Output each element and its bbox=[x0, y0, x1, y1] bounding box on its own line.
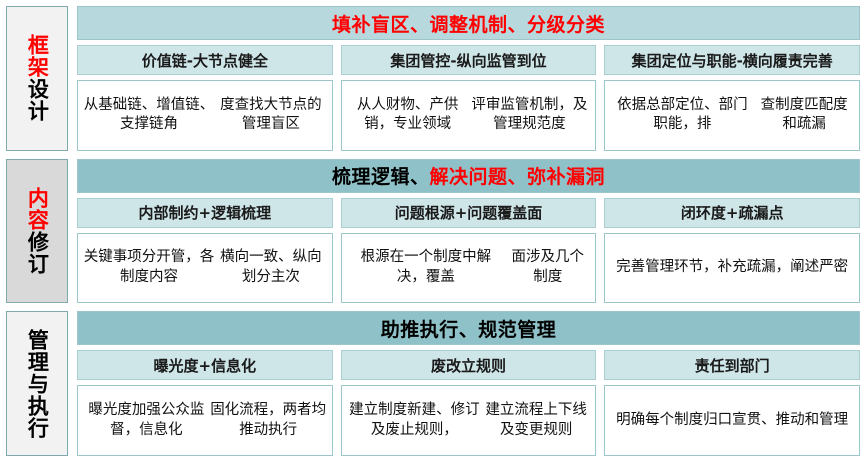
stage-label-framework-design: 框架设计 bbox=[6, 6, 68, 151]
column-card: 集团定位与职能-横向履责完善 依据总部定位、部门职能，排 查制度匹配度和疏漏 bbox=[604, 45, 860, 151]
column-card: 价值链-大节点健全 从基础链、增值链、支撑链角 度查找大节点的管理盲区 bbox=[77, 45, 333, 151]
stage-label-red: 框架 bbox=[25, 34, 49, 78]
column-group: 价值链-大节点健全 从基础链、增值链、支撑链角 度查找大节点的管理盲区 集团管控… bbox=[77, 45, 860, 151]
framework-diagram: 框架设计 填补盲区、调整机制、分级分类 价值链-大节点健全 从基础链、增值链、支… bbox=[0, 0, 866, 460]
column-card: 内部制约+逻辑梳理 关键事项分开管，各制度内容 横向一致、纵向划分主次 bbox=[77, 198, 333, 304]
column-body-line: 建立制度新建、修订及废止规则， bbox=[347, 401, 482, 440]
column-body: 从人财物、产供销，专业领域 评审监管机制，及管理规范度 bbox=[341, 80, 597, 151]
column-card: 问题根源+问题覆盖面 根源在一个制度中解决，覆盖 面涉及几个制度 bbox=[341, 198, 597, 304]
column-subheader: 废改立规则 bbox=[341, 350, 597, 380]
column-subheader: 内部制约+逻辑梳理 bbox=[77, 198, 333, 228]
column-body: 从基础链、增值链、支撑链角 度查找大节点的管理盲区 bbox=[77, 80, 333, 151]
column-card: 闭环度+疏漏点 完善管理环节，补充疏漏，阐 述严密 bbox=[604, 198, 860, 304]
stage-content: 梳理逻辑、解决问题、弥补漏洞 内部制约+逻辑梳理 关键事项分开管，各制度内容 横… bbox=[77, 159, 860, 304]
column-body-line: 推动和管理 bbox=[776, 411, 849, 431]
column-body-line: 关键事项分开管，各制度内容 bbox=[83, 248, 215, 287]
column-body-line: 从基础链、增值链、支撑链角 bbox=[83, 96, 215, 135]
banner-black-prefix: 助推执行、规范管理 bbox=[381, 315, 557, 342]
column-subheader: 问题根源+问题覆盖面 bbox=[341, 198, 597, 228]
column-body-line: 明确每个制度归口宣贯、 bbox=[616, 411, 776, 431]
row-banner-content-revision: 梳理逻辑、解决问题、弥补漏洞 bbox=[77, 159, 860, 193]
stage-content: 填补盲区、调整机制、分级分类 价值链-大节点健全 从基础链、增值链、支撑链角 度… bbox=[77, 6, 860, 151]
banner-black-prefix: 梳理逻辑、 bbox=[332, 162, 430, 189]
column-body-line: 查制度匹配度和疏漏 bbox=[754, 96, 854, 135]
column-subheader: 集团定位与职能-横向履责完善 bbox=[604, 45, 860, 75]
column-body-line: 曝光度加强公众监督，信息化 bbox=[83, 401, 210, 440]
column-subheader: 闭环度+疏漏点 bbox=[604, 198, 860, 228]
column-subheader: 价值链-大节点健全 bbox=[77, 45, 333, 75]
stage-label-red: 内容 bbox=[25, 187, 49, 231]
column-body-line: 述严密 bbox=[805, 258, 849, 278]
column-card: 责任到部门 明确每个制度归口宣贯、 推动和管理 bbox=[604, 350, 860, 456]
column-body-line: 完善管理环节，补充疏漏，阐 bbox=[616, 258, 805, 278]
row-banner-management-execution: 助推执行、规范管理 bbox=[77, 311, 860, 345]
stage-label-text: 管理与执行 bbox=[26, 329, 49, 439]
column-subheader: 曝光度+信息化 bbox=[77, 350, 333, 380]
stage-label-text: 框架设计 bbox=[26, 34, 49, 122]
stage-row-framework-design: 框架设计 填补盲区、调整机制、分级分类 价值链-大节点健全 从基础链、增值链、支… bbox=[6, 6, 860, 151]
column-card: 集团管控-纵向监管到位 从人财物、产供销，专业领域 评审监管机制，及管理规范度 bbox=[341, 45, 597, 151]
column-body: 关键事项分开管，各制度内容 横向一致、纵向划分主次 bbox=[77, 233, 333, 304]
stage-label-content-revision: 内容修订 bbox=[6, 159, 68, 304]
column-body-line: 面涉及几个制度 bbox=[505, 248, 590, 287]
column-body-line: 评审监管机制，及管理规范度 bbox=[469, 96, 591, 135]
stage-label-management-execution: 管理与执行 bbox=[6, 311, 68, 456]
stage-row-management-execution: 管理与执行 助推执行、规范管理 曝光度+信息化 曝光度加强公众监督，信息化 固化… bbox=[6, 311, 860, 456]
banner-red-text: 解决问题、弥补漏洞 bbox=[430, 162, 606, 189]
column-body-line: 建立流程上下线及变更规则 bbox=[482, 401, 590, 440]
column-body: 完善管理环节，补充疏漏，阐 述严密 bbox=[604, 233, 860, 304]
banner-red-text: 填补盲区、调整机制、分级分类 bbox=[332, 10, 605, 37]
stage-row-content-revision: 内容修订 梳理逻辑、解决问题、弥补漏洞 内部制约+逻辑梳理 关键事项分开管，各制… bbox=[6, 159, 860, 304]
stage-label-black: 修订 bbox=[25, 231, 49, 275]
column-body-line: 横向一致、纵向划分主次 bbox=[215, 248, 327, 287]
column-card: 曝光度+信息化 曝光度加强公众监督，信息化 固化流程，两者均推动执行 bbox=[77, 350, 333, 456]
column-body-line: 从人财物、产供销，专业领域 bbox=[347, 96, 469, 135]
stage-label-text: 内容修订 bbox=[26, 187, 49, 275]
column-body: 建立制度新建、修订及废止规则， 建立流程上下线及变更规则 bbox=[341, 385, 597, 456]
column-body: 曝光度加强公众监督，信息化 固化流程，两者均推动执行 bbox=[77, 385, 333, 456]
stage-label-black: 管理与执行 bbox=[25, 329, 49, 439]
column-body-line: 根源在一个制度中解决，覆盖 bbox=[347, 248, 505, 287]
stage-content: 助推执行、规范管理 曝光度+信息化 曝光度加强公众监督，信息化 固化流程，两者均… bbox=[77, 311, 860, 456]
column-body: 明确每个制度归口宣贯、 推动和管理 bbox=[604, 385, 860, 456]
column-subheader: 集团管控-纵向监管到位 bbox=[341, 45, 597, 75]
column-subheader: 责任到部门 bbox=[604, 350, 860, 380]
column-body-line: 度查找大节点的管理盲区 bbox=[215, 96, 327, 135]
row-banner-framework-design: 填补盲区、调整机制、分级分类 bbox=[77, 6, 860, 40]
column-body-line: 固化流程，两者均推动执行 bbox=[210, 401, 327, 440]
column-group: 内部制约+逻辑梳理 关键事项分开管，各制度内容 横向一致、纵向划分主次 问题根源… bbox=[77, 198, 860, 304]
column-body: 根源在一个制度中解决，覆盖 面涉及几个制度 bbox=[341, 233, 597, 304]
column-body-line: 依据总部定位、部门职能，排 bbox=[610, 96, 754, 135]
column-card: 废改立规则 建立制度新建、修订及废止规则， 建立流程上下线及变更规则 bbox=[341, 350, 597, 456]
stage-label-black: 设计 bbox=[25, 78, 49, 122]
column-body: 依据总部定位、部门职能，排 查制度匹配度和疏漏 bbox=[604, 80, 860, 151]
column-group: 曝光度+信息化 曝光度加强公众监督，信息化 固化流程，两者均推动执行 废改立规则… bbox=[77, 350, 860, 456]
